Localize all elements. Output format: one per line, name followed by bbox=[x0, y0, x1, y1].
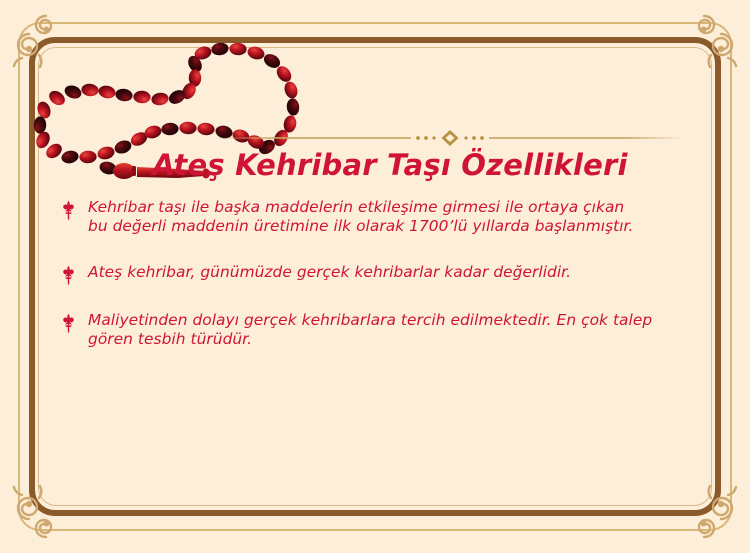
certificate-card: Ateş Kehribar Taşı Özellikleri Kehribar … bbox=[0, 0, 750, 553]
page-title: Ateş Kehribar Taşı Özellikleri bbox=[0, 148, 750, 182]
list-item: Maliyetinden dolayı gerçek kehribarlara … bbox=[60, 311, 690, 350]
corner-ornament-top-right bbox=[666, 8, 744, 86]
list-item-text: Maliyetinden dolayı gerçek kehribarlara … bbox=[88, 311, 673, 350]
fleur-de-lis-icon bbox=[60, 313, 77, 333]
corner-ornament-bottom-left bbox=[6, 467, 84, 545]
fleur-de-lis-icon bbox=[60, 265, 77, 285]
list-item-text: Kehribar taşı ile başka maddelerin etkil… bbox=[88, 198, 648, 237]
list-item: Kehribar taşı ile başka maddelerin etkil… bbox=[60, 198, 690, 237]
gold-diamond-divider bbox=[215, 128, 685, 148]
corner-ornament-top-left bbox=[6, 8, 84, 86]
list-item: Ateş kehribar, günümüzde gerçek kehribar… bbox=[60, 263, 690, 285]
corner-ornament-bottom-right bbox=[666, 467, 744, 545]
fleur-de-lis-icon bbox=[60, 200, 77, 220]
list-item-text: Ateş kehribar, günümüzde gerçek kehribar… bbox=[88, 263, 571, 282]
feature-list: Kehribar taşı ile başka maddelerin etkil… bbox=[60, 198, 690, 371]
